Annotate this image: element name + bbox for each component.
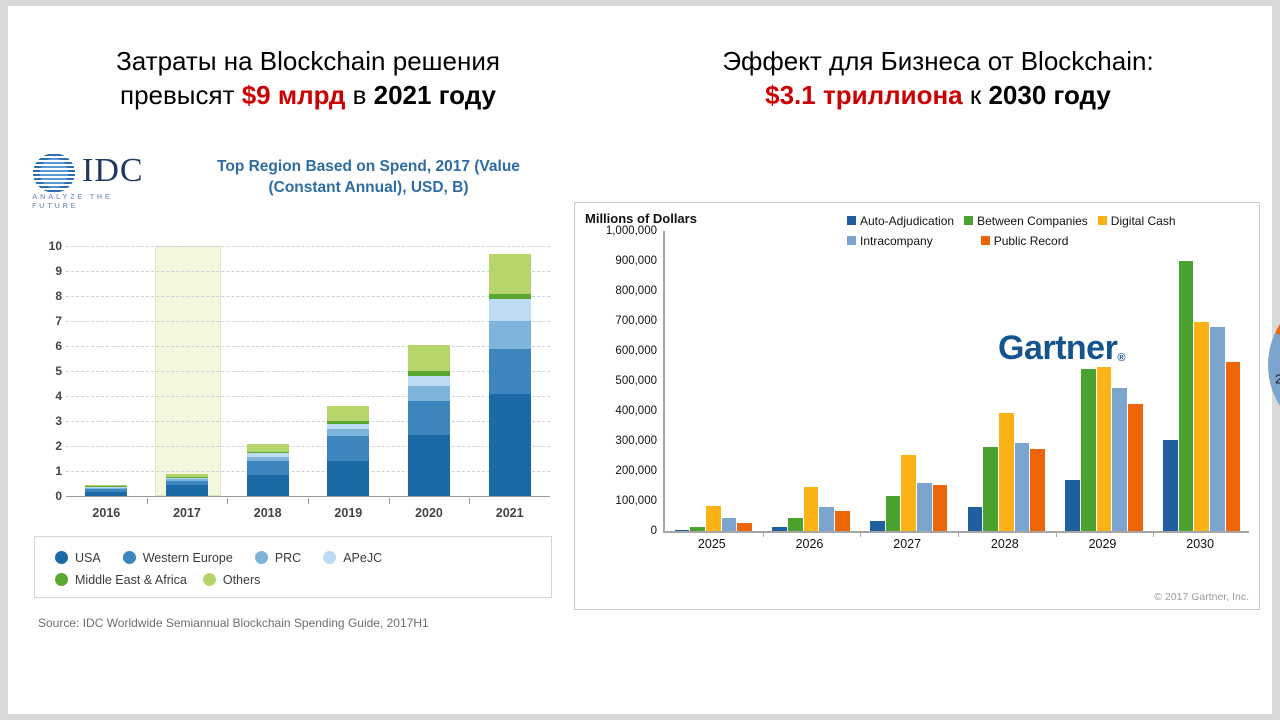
gartner-legend-item[interactable]: Digital Cash	[1098, 211, 1176, 231]
idc-bar-segment	[247, 444, 289, 452]
idc-globe-inner-icon	[40, 158, 68, 188]
idc-x-tickmark	[227, 498, 228, 504]
gartner-bar	[804, 487, 819, 531]
donut-ring	[1268, 289, 1280, 441]
idc-bar-segment	[408, 435, 450, 496]
gartner-bar	[901, 455, 916, 531]
gartner-plot: 0100,000200,000300,000400,000500,000600,…	[583, 231, 1255, 573]
gartner-bar	[1097, 367, 1112, 531]
gartner-bar-group-2027	[870, 231, 948, 531]
idc-legend-item[interactable]: USA	[55, 547, 101, 569]
gartner-legend-row: Auto-AdjudicationBetween CompaniesDigita…	[847, 211, 1247, 231]
title-left-line2-prefix: превысят	[120, 80, 242, 110]
idc-x-tick: 2018	[227, 498, 308, 520]
gartner-y-tick: 400,000	[583, 405, 657, 417]
idc-y-tick: 10	[34, 239, 62, 253]
idc-bar-segment	[247, 453, 289, 457]
idc-bar-segment	[408, 401, 450, 435]
idc-y-axis: 012345678910	[34, 246, 62, 496]
idc-x-axis: 201620172018201920202021	[66, 498, 550, 524]
gartner-bar	[1179, 261, 1194, 531]
idc-x-tick: 2021	[469, 498, 550, 520]
idc-bar-2019	[327, 246, 369, 496]
gartner-bar	[772, 527, 787, 531]
idc-legend-swatch	[323, 551, 336, 564]
gartner-bar	[722, 518, 737, 531]
idc-tagline: ANALYZE THE FUTURE	[32, 192, 160, 210]
idc-bar-segment	[85, 489, 127, 492]
gartner-legend-swatch	[847, 216, 856, 225]
idc-bar-segment	[489, 394, 531, 497]
idc-x-tick: 2017	[147, 498, 228, 520]
idc-y-tick: 5	[34, 364, 62, 378]
idc-y-tick: 7	[34, 314, 62, 328]
gartner-axis-title: Millions of Dollars	[585, 211, 697, 226]
idc-legend-swatch	[203, 573, 216, 586]
idc-bar-2021	[489, 246, 531, 496]
idc-bar-segment	[166, 485, 208, 496]
idc-bar-2020	[408, 246, 450, 496]
title-right-line2-bold: 2030 году	[988, 80, 1110, 110]
gartner-x-tick: 2028	[956, 537, 1054, 551]
idc-gridline	[66, 421, 550, 422]
idc-bar-segment	[408, 371, 450, 376]
gartner-bar	[933, 485, 948, 532]
title-right-line1: Эффект для Бизнеса от Blockchain:	[722, 46, 1153, 76]
idc-bar-2017	[166, 246, 208, 496]
gartner-y-tick: 500,000	[583, 375, 657, 387]
idc-x-tickmark	[389, 498, 390, 504]
idc-bar-2018	[247, 246, 289, 496]
idc-bar-segment	[327, 436, 369, 460]
idc-bar-segment	[327, 424, 369, 429]
idc-bar-segment	[408, 386, 450, 401]
gartner-bar	[917, 483, 932, 531]
gartner-legend-label: Between Companies	[977, 214, 1088, 228]
idc-bar-segment	[85, 487, 127, 488]
idc-y-tick: 3	[34, 414, 62, 428]
idc-y-tick: 6	[34, 339, 62, 353]
idc-gridline	[66, 296, 550, 297]
idc-bar-segment	[166, 478, 208, 479]
gartner-donut-chart: 2030 10%28%22%22%18%	[1268, 289, 1280, 441]
gartner-bar	[983, 447, 998, 531]
idc-bar-segment	[327, 429, 369, 437]
idc-legend-label: PRC	[275, 551, 301, 565]
gartner-bar	[1210, 327, 1225, 531]
idc-gridline	[66, 246, 550, 247]
idc-bar-segment	[166, 479, 208, 481]
idc-wordmark: IDC	[82, 152, 144, 190]
title-left-line2-mid: в	[345, 80, 373, 110]
idc-legend-item[interactable]: PRC	[255, 547, 301, 569]
idc-bar-segment	[166, 474, 208, 477]
idc-legend-label: USA	[75, 551, 101, 565]
idc-bar-segment	[408, 376, 450, 387]
idc-gridline	[66, 396, 550, 397]
idc-legend-label: Others	[223, 573, 261, 587]
gartner-bar	[1015, 443, 1030, 531]
gartner-bar	[1163, 440, 1178, 532]
gartner-bar	[1112, 388, 1127, 531]
idc-bar-segment	[166, 481, 208, 485]
idc-gridline	[66, 346, 550, 347]
gartner-y-tick: 1,000,000	[583, 225, 657, 237]
gartner-bar	[1065, 480, 1080, 531]
gartner-bar-group-2030	[1163, 231, 1241, 531]
gartner-legend-label: Auto-Adjudication	[860, 214, 954, 228]
idc-legend-swatch	[55, 573, 68, 586]
gartner-y-tick: 700,000	[583, 315, 657, 327]
idc-gridline	[66, 446, 550, 447]
gartner-bar	[690, 527, 705, 531]
idc-bar-segment	[327, 461, 369, 497]
idc-legend-row: USAWestern EuropePRCAPeJC	[55, 547, 551, 569]
idc-bar-segment	[489, 321, 531, 349]
idc-bar-segment	[247, 461, 289, 475]
slide-canvas: Затраты на Blockchain решения превысят $…	[8, 6, 1272, 714]
gartner-bar-group-2026	[772, 231, 850, 531]
idc-legend-item[interactable]: APeJC	[323, 547, 382, 569]
idc-bar-segment	[85, 486, 127, 487]
title-right-line2-mid: к	[963, 80, 989, 110]
idc-bar-segment	[489, 299, 531, 322]
idc-gridline	[66, 371, 550, 372]
idc-x-tickmark	[308, 498, 309, 504]
gartner-y-tick: 900,000	[583, 255, 657, 267]
idc-bar-segment	[327, 421, 369, 424]
gartner-y-tick: 100,000	[583, 495, 657, 507]
gartner-copyright: © 2017 Gartner, Inc.	[1154, 591, 1249, 603]
gartner-bar	[706, 506, 721, 531]
idc-legend-item[interactable]: Others	[203, 569, 261, 591]
gartner-bar	[675, 530, 690, 532]
gartner-legend-item[interactable]: Between Companies	[964, 211, 1088, 231]
gartner-bar	[788, 518, 803, 531]
gartner-y-tick: 200,000	[583, 465, 657, 477]
gartner-x-tick: 2027	[858, 537, 956, 551]
page-title-right: Эффект для Бизнеса от Blockchain: $3.1 т…	[628, 44, 1248, 112]
idc-legend-swatch	[55, 551, 68, 564]
gartner-bar	[870, 521, 885, 531]
gartner-bar	[1081, 369, 1096, 531]
gartner-bar	[886, 496, 901, 531]
gartner-y-tick: 600,000	[583, 345, 657, 357]
idc-x-tickmark	[469, 498, 470, 504]
idc-bar-segment	[85, 488, 127, 489]
idc-bar-segment	[85, 485, 127, 486]
gartner-legend-swatch	[1098, 216, 1107, 225]
gartner-bar	[1194, 322, 1209, 531]
idc-legend: USAWestern EuropePRCAPeJCMiddle East & A…	[34, 536, 552, 598]
idc-y-tick: 4	[34, 389, 62, 403]
idc-bar-segment	[489, 349, 531, 394]
gartner-legend-swatch	[964, 216, 973, 225]
gartner-plot-area: 2030 10%28%22%22%18% Gartner®	[663, 231, 1249, 533]
gartner-x-axis: 202520262027202820292030	[663, 535, 1249, 557]
idc-bar-segment	[247, 475, 289, 496]
gartner-bar	[968, 507, 983, 531]
gartner-bar	[737, 523, 752, 531]
idc-logo: IDC ANALYZE THE FUTURE	[28, 150, 160, 206]
idc-chart-panel: IDC ANALYZE THE FUTURE Top Region Based …	[16, 138, 564, 658]
gartner-bar	[1226, 362, 1241, 531]
page-title-left: Затраты на Blockchain решения превысят $…	[28, 44, 588, 112]
idc-x-tick: 2019	[308, 498, 389, 520]
idc-bar-segment	[489, 254, 531, 294]
gartner-chart-panel: Millions of Dollars Auto-AdjudicationBet…	[574, 202, 1260, 610]
idc-gridline	[66, 321, 550, 322]
gartner-x-tick: 2025	[663, 537, 761, 551]
idc-legend-label: Western Europe	[143, 551, 233, 565]
idc-bar-segment	[489, 294, 531, 299]
idc-legend-item[interactable]: Middle East & Africa	[55, 569, 187, 591]
gartner-bar-group-2029	[1065, 231, 1143, 531]
idc-source-note: Source: IDC Worldwide Semiannual Blockch…	[38, 616, 429, 630]
idc-bar-segment	[327, 406, 369, 421]
idc-gridline	[66, 271, 550, 272]
idc-bar-segment	[247, 457, 289, 462]
idc-x-tick: 2016	[66, 498, 147, 520]
idc-legend-label: Middle East & Africa	[75, 573, 187, 587]
idc-legend-swatch	[123, 551, 136, 564]
idc-bar-2016	[85, 246, 127, 496]
idc-y-tick: 0	[34, 489, 62, 503]
idc-chart-title: Top Region Based on Spend, 2017 (Value (…	[181, 156, 556, 198]
idc-gridline	[66, 471, 550, 472]
idc-bar-segment	[408, 345, 450, 371]
gartner-bar	[1030, 449, 1045, 532]
idc-legend-item[interactable]: Western Europe	[123, 547, 233, 569]
gartner-y-tick: 300,000	[583, 435, 657, 447]
gartner-bar	[835, 511, 850, 531]
donut-slice-label: 22%	[1275, 372, 1280, 387]
gartner-x-tick: 2029	[1054, 537, 1152, 551]
gartner-legend-label: Digital Cash	[1111, 214, 1176, 228]
gartner-bar	[819, 507, 834, 531]
idc-legend-swatch	[255, 551, 268, 564]
idc-legend-row: Middle East & AfricaOthers	[55, 569, 551, 591]
idc-y-tick: 1	[34, 464, 62, 478]
idc-y-tick: 9	[34, 264, 62, 278]
idc-x-tick: 2020	[389, 498, 470, 520]
gartner-legend-item[interactable]: Auto-Adjudication	[847, 211, 954, 231]
title-left-line1: Затраты на Blockchain решения	[116, 46, 500, 76]
gartner-bar-group-2028	[968, 231, 1046, 531]
idc-plot-area	[66, 246, 550, 497]
idc-bar-segment	[247, 452, 289, 454]
title-right-accent: $3.1 триллиона	[765, 80, 963, 110]
title-left-accent: $9 млрд	[242, 80, 346, 110]
gartner-bar-group-2025	[675, 231, 753, 531]
gartner-bar	[1128, 404, 1143, 531]
idc-x-tickmark	[147, 498, 148, 504]
title-left-line2-bold: 2021 году	[374, 80, 496, 110]
idc-y-tick: 2	[34, 439, 62, 453]
gartner-x-tick: 2030	[1151, 537, 1249, 551]
idc-plot: 012345678910 201620172018201920202021	[34, 246, 554, 516]
idc-legend-label: APeJC	[343, 551, 382, 565]
idc-bar-segment	[85, 492, 127, 497]
gartner-y-axis: 0100,000200,000300,000400,000500,000600,…	[583, 231, 657, 531]
gartner-y-tick: 800,000	[583, 285, 657, 297]
idc-y-tick: 8	[34, 289, 62, 303]
idc-bar-segment	[166, 477, 208, 478]
gartner-x-tick: 2026	[761, 537, 859, 551]
gartner-y-tick: 0	[583, 525, 657, 537]
gartner-bar	[999, 413, 1014, 531]
